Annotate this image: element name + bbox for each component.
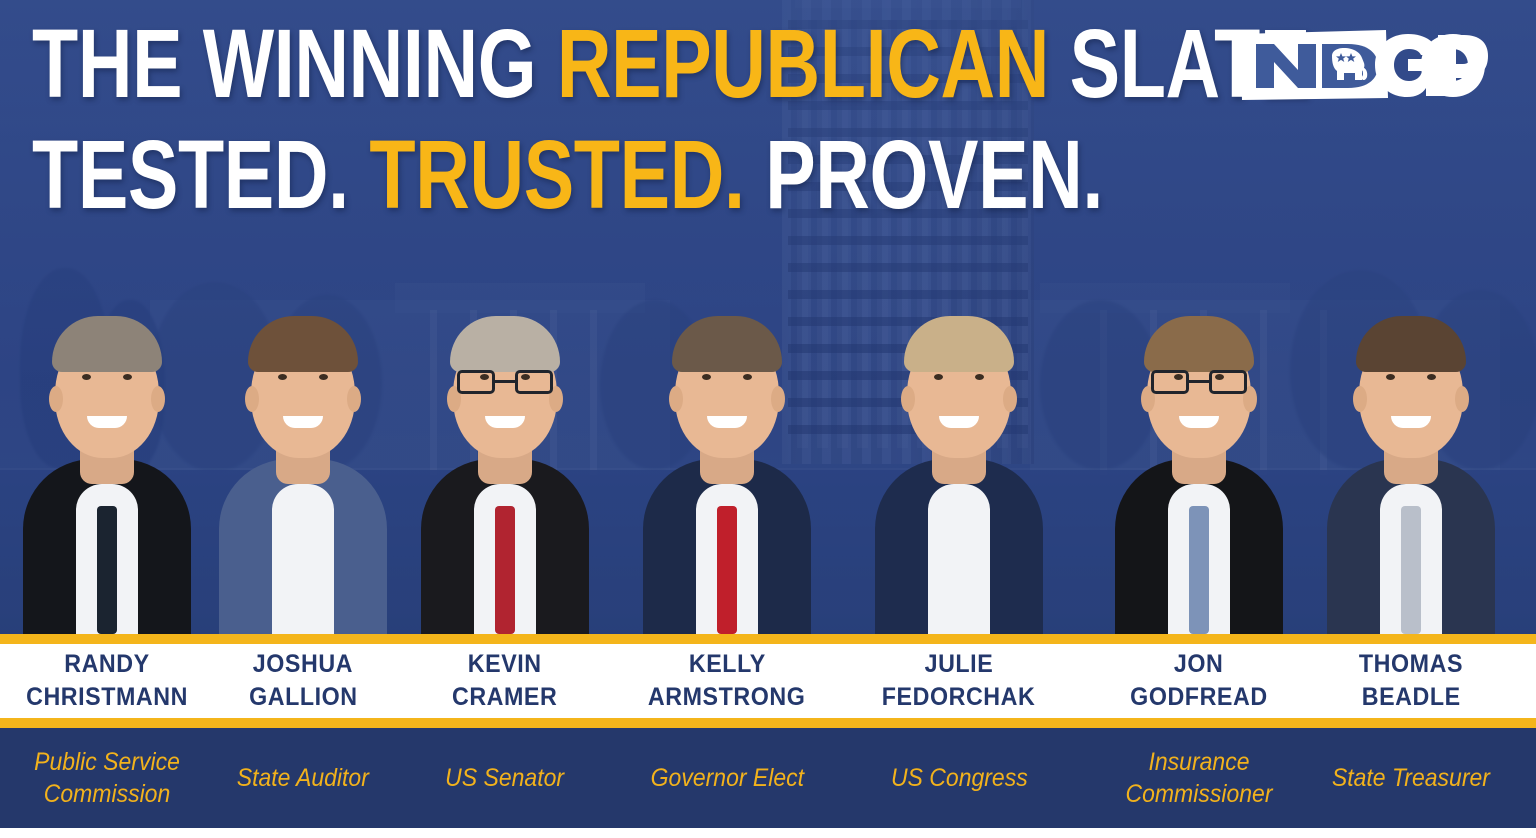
candidate-eye — [278, 374, 287, 380]
candidate-first-name: THOMAS — [1359, 648, 1463, 681]
candidate-smile — [707, 416, 747, 428]
candidate-office-title: US Senator — [446, 762, 565, 794]
candidate-first-name: JOSHUA — [253, 648, 353, 681]
candidate-portraits — [0, 214, 1536, 634]
ndgop-logo[interactable] — [1236, 26, 1494, 104]
headline-line-1: THE WINNING REPUBLICAN SLATE — [32, 16, 1310, 111]
ndgop-logo-svg — [1236, 26, 1494, 104]
candidate-office-title: US Congress — [891, 762, 1028, 794]
candidate-first-name: KELLY — [689, 648, 766, 681]
candidate-smile — [1391, 416, 1431, 428]
headline-line-2: TESTED. TRUSTED. PROVEN. — [32, 127, 1310, 222]
candidate-hair — [904, 316, 1014, 372]
titles-columns: Public Service CommissionState AuditorUS… — [0, 728, 1536, 828]
candidate-ear — [1353, 386, 1367, 412]
candidate-last-name: FEDORCHAK — [882, 681, 1036, 714]
candidate-photo-7 — [1306, 214, 1516, 634]
candidate-photo-6 — [1094, 214, 1304, 634]
candidate-name-7: THOMASBEADLE — [1306, 644, 1516, 718]
candidate-shirt — [928, 484, 990, 634]
candidate-tie — [1401, 506, 1421, 634]
candidate-first-name: RANDY — [64, 648, 149, 681]
candidate-ear — [669, 386, 683, 412]
candidate-last-name: BEADLE — [1362, 681, 1461, 714]
candidate-office-title: Insurance Commissioner — [1112, 746, 1287, 810]
headline-line2-part1: TESTED. — [32, 120, 369, 229]
candidate-ear — [49, 386, 63, 412]
candidate-first-name: KEVIN — [468, 648, 542, 681]
candidate-title-4: Governor Elect — [632, 728, 822, 828]
candidate-photo-5 — [854, 214, 1064, 634]
candidate-eye — [743, 374, 752, 380]
candidate-title-2: State Auditor — [208, 728, 398, 828]
candidate-ear — [901, 386, 915, 412]
candidate-hair — [450, 316, 560, 372]
candidate-title-1: Public Service Commission — [12, 728, 202, 828]
candidate-ear — [245, 386, 259, 412]
candidate-eye — [1386, 374, 1395, 380]
candidate-office-title: Public Service Commission — [20, 746, 195, 810]
candidate-eye — [319, 374, 328, 380]
candidate-hair — [248, 316, 358, 372]
candidate-titles-band: Public Service CommissionState AuditorUS… — [0, 728, 1536, 828]
gold-rule-middle — [0, 718, 1536, 728]
candidate-hair — [52, 316, 162, 372]
candidate-first-name: JON — [1174, 648, 1223, 681]
campaign-poster: THE WINNING REPUBLICAN SLATE TESTED. TRU… — [0, 0, 1536, 838]
candidate-name-4: KELLYARMSTRONG — [622, 644, 832, 718]
candidate-ear — [347, 386, 361, 412]
candidate-smile — [283, 416, 323, 428]
candidate-first-name: JULIE — [925, 648, 994, 681]
candidate-tie — [717, 506, 737, 634]
candidate-smile — [1179, 416, 1219, 428]
glasses-icon — [457, 370, 553, 396]
candidate-office-title: State Treasurer — [1332, 762, 1490, 794]
candidate-photo-3 — [400, 214, 610, 634]
candidate-name-2: JOSHUAGALLION — [198, 644, 408, 718]
candidate-eye — [934, 374, 943, 380]
candidate-title-5: US Congress — [864, 728, 1054, 828]
candidate-hair — [1144, 316, 1254, 372]
headline-line2-part2: PROVEN. — [745, 120, 1103, 229]
bottom-white-strip — [0, 828, 1536, 838]
candidate-hair — [1356, 316, 1466, 372]
candidate-names-band: RANDYCHRISTMANNJOSHUAGALLIONKEVINCRAMERK… — [0, 644, 1536, 718]
names-columns: RANDYCHRISTMANNJOSHUAGALLIONKEVINCRAMERK… — [0, 644, 1536, 718]
candidate-ear — [771, 386, 785, 412]
candidate-last-name: CHRISTMANN — [26, 681, 188, 714]
candidate-last-name: GODFREAD — [1130, 681, 1268, 714]
candidate-eye — [82, 374, 91, 380]
candidate-ear — [151, 386, 165, 412]
candidate-title-6: Insurance Commissioner — [1104, 728, 1294, 828]
candidate-smile — [939, 416, 979, 428]
candidate-smile — [87, 416, 127, 428]
candidate-name-6: JONGODFREAD — [1094, 644, 1304, 718]
headline-line2-highlight: TRUSTED. — [369, 120, 744, 229]
candidate-ear — [1455, 386, 1469, 412]
gold-rule-top — [0, 634, 1536, 644]
candidate-hair — [672, 316, 782, 372]
candidate-last-name: CRAMER — [452, 681, 557, 714]
candidate-office-title: Governor Elect — [650, 762, 803, 794]
candidate-name-5: JULIEFEDORCHAK — [854, 644, 1064, 718]
candidate-shirt — [272, 484, 334, 634]
candidate-smile — [485, 416, 525, 428]
candidate-name-1: RANDYCHRISTMANN — [2, 644, 212, 718]
candidate-title-7: State Treasurer — [1316, 728, 1506, 828]
candidate-ear — [1003, 386, 1017, 412]
candidate-tie — [495, 506, 515, 634]
candidate-office-title: State Auditor — [237, 762, 369, 794]
headline-line1-part1: THE WINNING — [32, 9, 557, 118]
candidate-photo-4 — [622, 214, 832, 634]
candidate-tie — [97, 506, 117, 634]
candidate-last-name: GALLION — [249, 681, 358, 714]
candidate-eye — [975, 374, 984, 380]
candidate-photo-2 — [198, 214, 408, 634]
headline-line1-highlight: REPUBLICAN — [557, 9, 1049, 118]
candidate-eye — [123, 374, 132, 380]
candidate-name-3: KEVINCRAMER — [400, 644, 610, 718]
candidate-eye — [1427, 374, 1436, 380]
glasses-icon — [1151, 370, 1247, 396]
candidate-last-name: ARMSTRONG — [648, 681, 805, 714]
candidate-photo-1 — [2, 214, 212, 634]
candidate-tie — [1189, 506, 1209, 634]
candidate-eye — [702, 374, 711, 380]
candidate-title-3: US Senator — [410, 728, 600, 828]
